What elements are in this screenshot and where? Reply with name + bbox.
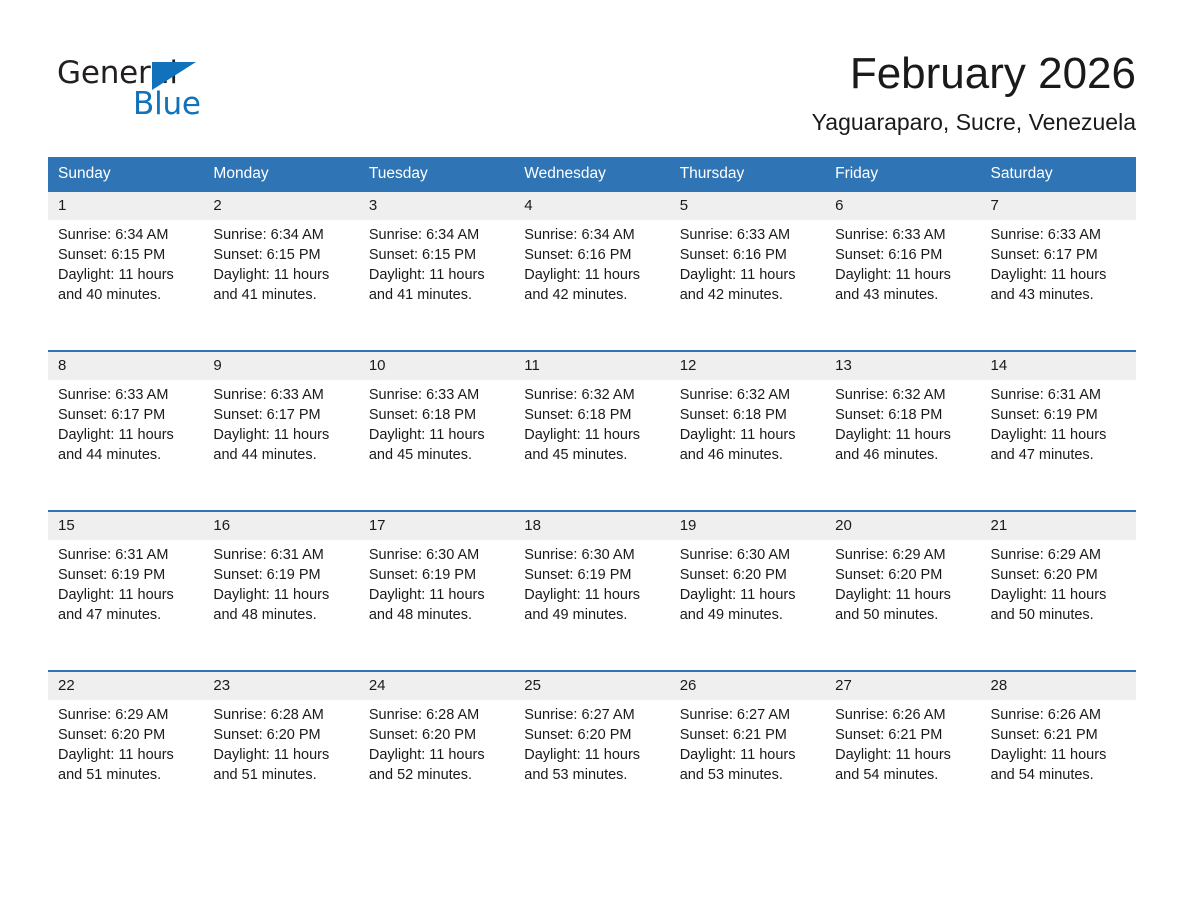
day-cell[interactable]: Sunrise: 6:34 AM Sunset: 6:15 PM Dayligh… [48,220,203,351]
daylight-text-line1: Daylight: 11 hours [524,265,657,285]
day-number[interactable]: 8 [48,351,203,380]
daylight-text-line2: and 44 minutes. [58,445,191,465]
sunrise-text: Sunrise: 6:34 AM [369,225,502,245]
title-block: February 2026 Yaguaraparo, Sucre, Venezu… [812,48,1136,136]
day-cell[interactable]: Sunrise: 6:34 AM Sunset: 6:16 PM Dayligh… [514,220,669,351]
daylight-text-line2: and 43 minutes. [835,285,968,305]
sunset-text: Sunset: 6:19 PM [524,565,657,585]
day-number[interactable]: 5 [670,192,825,220]
day-cell[interactable]: Sunrise: 6:31 AM Sunset: 6:19 PM Dayligh… [981,380,1136,511]
sunrise-text: Sunrise: 6:34 AM [524,225,657,245]
day-cell[interactable]: Sunrise: 6:29 AM Sunset: 6:20 PM Dayligh… [981,540,1136,671]
daylight-text-line1: Daylight: 11 hours [213,265,346,285]
sunset-text: Sunset: 6:18 PM [369,405,502,425]
daylight-text-line1: Daylight: 11 hours [680,745,813,765]
day-number[interactable]: 28 [981,671,1136,700]
sunset-text: Sunset: 6:18 PM [524,405,657,425]
day-cell[interactable]: Sunrise: 6:32 AM Sunset: 6:18 PM Dayligh… [825,380,980,511]
weekday-header-monday: Monday [203,157,358,192]
day-cell[interactable]: Sunrise: 6:30 AM Sunset: 6:19 PM Dayligh… [359,540,514,671]
sunrise-text: Sunrise: 6:26 AM [835,705,968,725]
day-cell[interactable]: Sunrise: 6:34 AM Sunset: 6:15 PM Dayligh… [203,220,358,351]
sunrise-text: Sunrise: 6:34 AM [58,225,191,245]
week-row-details: Sunrise: 6:34 AM Sunset: 6:15 PM Dayligh… [48,220,1136,351]
daylight-text-line2: and 48 minutes. [213,605,346,625]
sunset-text: Sunset: 6:15 PM [369,245,502,265]
daylight-text-line2: and 53 minutes. [524,765,657,785]
day-number[interactable]: 13 [825,351,980,380]
day-cell[interactable]: Sunrise: 6:28 AM Sunset: 6:20 PM Dayligh… [203,700,358,830]
day-number[interactable]: 11 [514,351,669,380]
daylight-text-line1: Daylight: 11 hours [680,265,813,285]
daylight-text-line1: Daylight: 11 hours [524,745,657,765]
day-cell[interactable]: Sunrise: 6:26 AM Sunset: 6:21 PM Dayligh… [981,700,1136,830]
day-number[interactable]: 15 [48,511,203,540]
day-cell[interactable]: Sunrise: 6:31 AM Sunset: 6:19 PM Dayligh… [203,540,358,671]
daylight-text-line1: Daylight: 11 hours [835,745,968,765]
day-cell[interactable]: Sunrise: 6:29 AM Sunset: 6:20 PM Dayligh… [825,540,980,671]
sunrise-text: Sunrise: 6:30 AM [680,545,813,565]
sunset-text: Sunset: 6:16 PM [835,245,968,265]
weekday-header-thursday: Thursday [670,157,825,192]
sunset-text: Sunset: 6:19 PM [213,565,346,585]
daylight-text-line1: Daylight: 11 hours [680,585,813,605]
day-number[interactable]: 20 [825,511,980,540]
week-row-daynumbers: 15 16 17 18 19 20 21 [48,511,1136,540]
sunrise-text: Sunrise: 6:34 AM [213,225,346,245]
daylight-text-line2: and 46 minutes. [835,445,968,465]
sunset-text: Sunset: 6:19 PM [58,565,191,585]
sunrise-text: Sunrise: 6:33 AM [58,385,191,405]
sunrise-text: Sunrise: 6:31 AM [213,545,346,565]
sunrise-text: Sunrise: 6:29 AM [58,705,191,725]
daylight-text-line2: and 45 minutes. [524,445,657,465]
daylight-text-line1: Daylight: 11 hours [58,585,191,605]
calendar-body: 1 2 3 4 5 6 7 Sunrise: 6:34 AM Sunset: 6… [48,192,1136,830]
daylight-text-line2: and 49 minutes. [524,605,657,625]
daylight-text-line1: Daylight: 11 hours [58,425,191,445]
sunset-text: Sunset: 6:17 PM [213,405,346,425]
day-cell[interactable]: Sunrise: 6:32 AM Sunset: 6:18 PM Dayligh… [670,380,825,511]
daylight-text-line1: Daylight: 11 hours [213,585,346,605]
sunrise-text: Sunrise: 6:32 AM [680,385,813,405]
sunrise-text: Sunrise: 6:30 AM [524,545,657,565]
day-cell[interactable]: Sunrise: 6:33 AM Sunset: 6:17 PM Dayligh… [981,220,1136,351]
daylight-text-line2: and 42 minutes. [524,285,657,305]
daylight-text-line1: Daylight: 11 hours [835,265,968,285]
sunset-text: Sunset: 6:20 PM [369,725,502,745]
day-number[interactable]: 24 [359,671,514,700]
sunrise-text: Sunrise: 6:33 AM [213,385,346,405]
day-number[interactable]: 14 [981,351,1136,380]
sunset-text: Sunset: 6:21 PM [680,725,813,745]
daylight-text-line1: Daylight: 11 hours [991,585,1124,605]
day-number[interactable]: 22 [48,671,203,700]
sunset-text: Sunset: 6:18 PM [680,405,813,425]
daylight-text-line1: Daylight: 11 hours [369,425,502,445]
daylight-text-line2: and 41 minutes. [213,285,346,305]
calendar-header-row: Sunday Monday Tuesday Wednesday Thursday… [48,157,1136,192]
calendar-grid: Sunday Monday Tuesday Wednesday Thursday… [48,157,1136,830]
daylight-text-line2: and 54 minutes. [991,765,1124,785]
day-cell[interactable]: Sunrise: 6:30 AM Sunset: 6:20 PM Dayligh… [670,540,825,671]
sunrise-text: Sunrise: 6:31 AM [58,545,191,565]
sunset-text: Sunset: 6:16 PM [524,245,657,265]
daylight-text-line2: and 54 minutes. [835,765,968,785]
sunrise-text: Sunrise: 6:26 AM [991,705,1124,725]
sunrise-text: Sunrise: 6:33 AM [835,225,968,245]
brand-name-blue: Blue [133,86,201,122]
day-cell[interactable]: Sunrise: 6:33 AM Sunset: 6:17 PM Dayligh… [48,380,203,511]
day-number[interactable]: 7 [981,192,1136,220]
day-cell[interactable]: Sunrise: 6:29 AM Sunset: 6:20 PM Dayligh… [48,700,203,830]
daylight-text-line1: Daylight: 11 hours [524,425,657,445]
daylight-text-line2: and 44 minutes. [213,445,346,465]
day-cell[interactable]: Sunrise: 6:34 AM Sunset: 6:15 PM Dayligh… [359,220,514,351]
calendar-page: General Blue February 2026 Yaguaraparo, … [0,0,1188,918]
sunrise-text: Sunrise: 6:32 AM [835,385,968,405]
daylight-text-line2: and 48 minutes. [369,605,502,625]
daylight-text-line2: and 50 minutes. [991,605,1124,625]
day-cell[interactable]: Sunrise: 6:33 AM Sunset: 6:17 PM Dayligh… [203,380,358,511]
sunrise-text: Sunrise: 6:33 AM [680,225,813,245]
sunset-text: Sunset: 6:15 PM [58,245,191,265]
week-row-details: Sunrise: 6:33 AM Sunset: 6:17 PM Dayligh… [48,380,1136,511]
sunrise-text: Sunrise: 6:33 AM [991,225,1124,245]
day-number[interactable]: 1 [48,192,203,220]
day-cell[interactable]: Sunrise: 6:27 AM Sunset: 6:20 PM Dayligh… [514,700,669,830]
week-row-daynumbers: 1 2 3 4 5 6 7 [48,192,1136,220]
daylight-text-line2: and 41 minutes. [369,285,502,305]
sunset-text: Sunset: 6:19 PM [369,565,502,585]
sunrise-text: Sunrise: 6:30 AM [369,545,502,565]
daylight-text-line1: Daylight: 11 hours [991,425,1124,445]
calendar-table: Sunday Monday Tuesday Wednesday Thursday… [48,157,1136,830]
day-number[interactable]: 16 [203,511,358,540]
daylight-text-line2: and 47 minutes. [991,445,1124,465]
day-cell[interactable]: Sunrise: 6:32 AM Sunset: 6:18 PM Dayligh… [514,380,669,511]
daylight-text-line2: and 50 minutes. [835,605,968,625]
daylight-text-line2: and 51 minutes. [58,765,191,785]
sunset-text: Sunset: 6:21 PM [991,725,1124,745]
brand-logo[interactable]: General Blue [57,55,287,125]
location-subtitle: Yaguaraparo, Sucre, Venezuela [812,108,1136,136]
week-row-details: Sunrise: 6:31 AM Sunset: 6:19 PM Dayligh… [48,540,1136,671]
sunset-text: Sunset: 6:20 PM [680,565,813,585]
daylight-text-line2: and 47 minutes. [58,605,191,625]
daylight-text-line2: and 53 minutes. [680,765,813,785]
sunrise-text: Sunrise: 6:31 AM [991,385,1124,405]
day-number[interactable]: 12 [670,351,825,380]
daylight-text-line1: Daylight: 11 hours [213,745,346,765]
daylight-text-line1: Daylight: 11 hours [213,425,346,445]
day-number[interactable]: 3 [359,192,514,220]
daylight-text-line1: Daylight: 11 hours [524,585,657,605]
day-cell[interactable]: Sunrise: 6:30 AM Sunset: 6:19 PM Dayligh… [514,540,669,671]
daylight-text-line2: and 46 minutes. [680,445,813,465]
daylight-text-line1: Daylight: 11 hours [58,745,191,765]
daylight-text-line1: Daylight: 11 hours [369,585,502,605]
weekday-header-saturday: Saturday [981,157,1136,192]
daylight-text-line1: Daylight: 11 hours [835,585,968,605]
daylight-text-line1: Daylight: 11 hours [991,265,1124,285]
daylight-text-line1: Daylight: 11 hours [58,265,191,285]
day-cell[interactable]: Sunrise: 6:28 AM Sunset: 6:20 PM Dayligh… [359,700,514,830]
daylight-text-line2: and 51 minutes. [213,765,346,785]
sunset-text: Sunset: 6:20 PM [524,725,657,745]
day-number[interactable]: 10 [359,351,514,380]
day-cell[interactable]: Sunrise: 6:31 AM Sunset: 6:19 PM Dayligh… [48,540,203,671]
day-number[interactable]: 27 [825,671,980,700]
weekday-header-sunday: Sunday [48,157,203,192]
weekday-header-wednesday: Wednesday [514,157,669,192]
week-row-daynumbers: 8 9 10 11 12 13 14 [48,351,1136,380]
day-number[interactable]: 4 [514,192,669,220]
day-cell[interactable]: Sunrise: 6:33 AM Sunset: 6:18 PM Dayligh… [359,380,514,511]
sunset-text: Sunset: 6:20 PM [58,725,191,745]
weekday-header-friday: Friday [825,157,980,192]
week-row-daynumbers: 22 23 24 25 26 27 28 [48,671,1136,700]
sunset-text: Sunset: 6:21 PM [835,725,968,745]
daylight-text-line2: and 42 minutes. [680,285,813,305]
sunset-text: Sunset: 6:20 PM [835,565,968,585]
sunset-text: Sunset: 6:15 PM [213,245,346,265]
sunset-text: Sunset: 6:20 PM [991,565,1124,585]
page-title: February 2026 [812,48,1136,100]
day-number[interactable]: 6 [825,192,980,220]
page-header: General Blue February 2026 Yaguaraparo, … [0,0,1188,155]
day-cell[interactable]: Sunrise: 6:33 AM Sunset: 6:16 PM Dayligh… [825,220,980,351]
sunset-text: Sunset: 6:18 PM [835,405,968,425]
daylight-text-line1: Daylight: 11 hours [369,745,502,765]
sunrise-text: Sunrise: 6:29 AM [835,545,968,565]
day-number[interactable]: 9 [203,351,358,380]
daylight-text-line2: and 43 minutes. [991,285,1124,305]
sunset-text: Sunset: 6:16 PM [680,245,813,265]
daylight-text-line1: Daylight: 11 hours [680,425,813,445]
day-number[interactable]: 17 [359,511,514,540]
daylight-text-line2: and 40 minutes. [58,285,191,305]
daylight-text-line2: and 52 minutes. [369,765,502,785]
sunset-text: Sunset: 6:17 PM [991,245,1124,265]
sunrise-text: Sunrise: 6:28 AM [213,705,346,725]
daylight-text-line1: Daylight: 11 hours [369,265,502,285]
daylight-text-line1: Daylight: 11 hours [835,425,968,445]
day-cell[interactable]: Sunrise: 6:27 AM Sunset: 6:21 PM Dayligh… [670,700,825,830]
sunrise-text: Sunrise: 6:32 AM [524,385,657,405]
daylight-text-line2: and 49 minutes. [680,605,813,625]
sunset-text: Sunset: 6:17 PM [58,405,191,425]
sunrise-text: Sunrise: 6:27 AM [680,705,813,725]
sunset-text: Sunset: 6:19 PM [991,405,1124,425]
sunrise-text: Sunrise: 6:27 AM [524,705,657,725]
day-number[interactable]: 2 [203,192,358,220]
day-cell[interactable]: Sunrise: 6:26 AM Sunset: 6:21 PM Dayligh… [825,700,980,830]
day-number[interactable]: 23 [203,671,358,700]
day-number[interactable]: 19 [670,511,825,540]
week-row-details: Sunrise: 6:29 AM Sunset: 6:20 PM Dayligh… [48,700,1136,830]
day-number[interactable]: 25 [514,671,669,700]
day-cell[interactable]: Sunrise: 6:33 AM Sunset: 6:16 PM Dayligh… [670,220,825,351]
sunrise-text: Sunrise: 6:29 AM [991,545,1124,565]
sunrise-text: Sunrise: 6:33 AM [369,385,502,405]
sunset-text: Sunset: 6:20 PM [213,725,346,745]
daylight-text-line2: and 45 minutes. [369,445,502,465]
day-number[interactable]: 26 [670,671,825,700]
day-number[interactable]: 18 [514,511,669,540]
weekday-header-tuesday: Tuesday [359,157,514,192]
sunrise-text: Sunrise: 6:28 AM [369,705,502,725]
day-number[interactable]: 21 [981,511,1136,540]
daylight-text-line1: Daylight: 11 hours [991,745,1124,765]
